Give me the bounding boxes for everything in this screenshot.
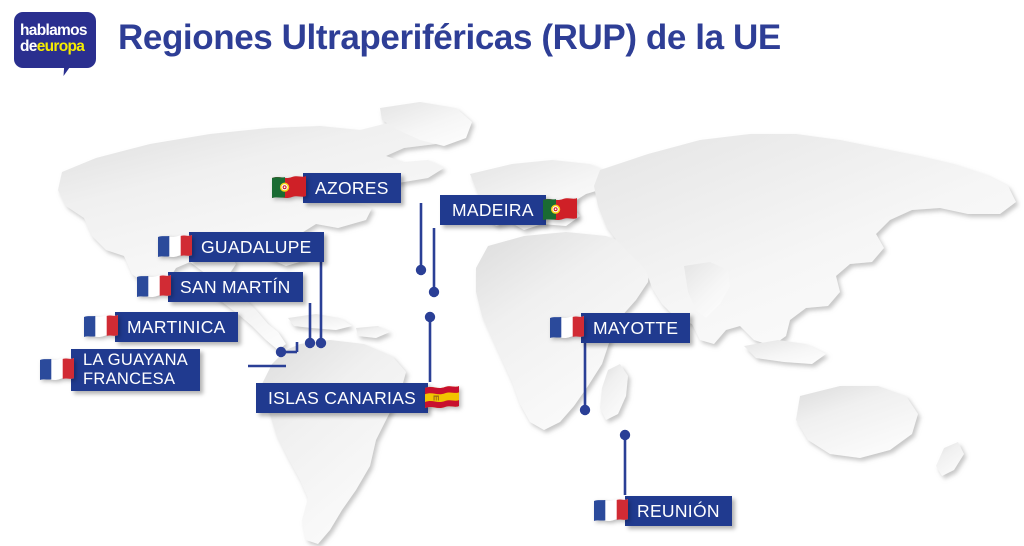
landmass-caribbean — [288, 314, 352, 330]
logo-bubble-tail — [64, 62, 81, 76]
region-label-box-reunion: REUNIÓN — [625, 496, 732, 526]
region-label-text-azores: AZORES — [315, 178, 389, 198]
flag-france-icon — [550, 315, 584, 341]
region-label-guadalupe[interactable]: GUADALUPE — [158, 232, 324, 262]
region-label-text-la-guayana-line1: LA GUAYANA — [83, 351, 188, 370]
page-title: Regiones Ultraperiféricas (RUP) de la UE — [118, 18, 781, 58]
landmass-madagascar — [600, 364, 628, 420]
flag-spain-icon — [425, 385, 459, 411]
region-label-box-mayotte: MAYOTTE — [581, 313, 690, 343]
region-label-martinica[interactable]: MARTINICA — [84, 312, 238, 342]
region-label-box-la-guayana-francesa: LA GUAYANA FRANCESA — [71, 349, 200, 391]
region-label-mayotte[interactable]: MAYOTTE — [550, 313, 690, 343]
region-label-box-martinica: MARTINICA — [115, 312, 238, 342]
flag-france-icon — [40, 355, 74, 385]
flag-france-icon — [158, 234, 192, 260]
flag-france-icon — [137, 274, 171, 300]
region-label-islas-canarias[interactable]: ISLAS CANARIAS — [256, 383, 459, 413]
logo-word-europa: europa — [37, 38, 84, 55]
region-label-reunion[interactable]: REUNIÓN — [594, 496, 732, 526]
flag-france-icon — [594, 498, 628, 524]
region-label-box-guadalupe: GUADALUPE — [189, 232, 324, 262]
region-label-san-martin[interactable]: SAN MARTÍN — [137, 272, 303, 302]
region-label-text-islas-canarias: ISLAS CANARIAS — [268, 388, 416, 408]
landmass-australia — [796, 386, 918, 458]
region-label-box-madeira: MADEIRA — [440, 195, 546, 225]
landmass-new-zealand — [936, 442, 964, 476]
region-label-text-madeira: MADEIRA — [452, 200, 534, 220]
logo-line-deeuropa: deeuropa — [20, 39, 94, 55]
logo-word-de: de — [20, 38, 37, 55]
flag-portugal-icon — [543, 197, 577, 223]
region-label-text-martinica: MARTINICA — [127, 317, 226, 337]
region-label-azores[interactable]: AZORES — [272, 173, 401, 203]
region-label-text-guadalupe: GUADALUPE — [201, 237, 312, 257]
landmass-hispaniola — [356, 326, 390, 338]
hablamos-de-europa-logo[interactable]: hablamos deeuropa — [14, 12, 96, 74]
region-label-madeira[interactable]: MADEIRA — [440, 195, 577, 225]
region-label-box-islas-canarias: ISLAS CANARIAS — [256, 383, 428, 413]
logo-text: hablamos deeuropa — [20, 23, 94, 54]
region-label-text-mayotte: MAYOTTE — [593, 318, 678, 338]
region-label-box-san-martin: SAN MARTÍN — [168, 272, 303, 302]
region-label-la-guayana-francesa[interactable]: LA GUAYANA FRANCESA — [40, 355, 200, 385]
landmass-southeast-asia — [744, 340, 826, 364]
region-label-text-reunion: REUNIÓN — [637, 501, 720, 521]
flag-france-icon — [84, 314, 118, 340]
region-label-text-la-guayana-line2: FRANCESA — [83, 370, 175, 389]
infographic-canvas: hablamos deeuropa Regiones Ultraperiféri… — [0, 0, 1024, 546]
flag-portugal-icon — [272, 175, 306, 201]
landmass-south-america — [262, 340, 406, 544]
logo-line-hablamos: hablamos — [20, 23, 94, 39]
region-label-box-azores: AZORES — [303, 173, 401, 203]
region-label-text-san-martin: SAN MARTÍN — [180, 277, 291, 297]
